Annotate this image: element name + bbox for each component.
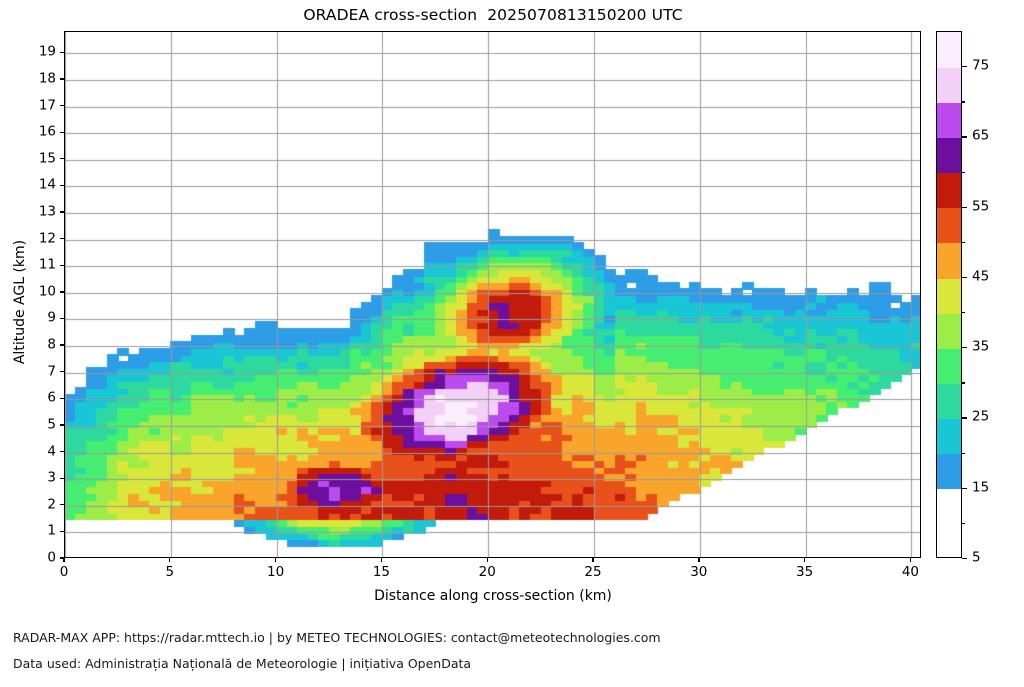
x-tick-label: 30	[690, 566, 707, 580]
colorbar-tick-label: 35	[972, 340, 989, 354]
y-tick-label: 16	[39, 125, 56, 139]
x-tick-mark	[381, 558, 382, 562]
colorbar-tick-label: 55	[972, 200, 989, 214]
colorbar-tick-mark	[962, 347, 967, 348]
x-tick-mark	[910, 558, 911, 562]
colorbar-tick-label: 15	[972, 481, 989, 495]
colorbar-tick-mark	[962, 207, 967, 208]
colorbar-tick-mark	[962, 488, 967, 489]
colorbar-minor-tick-mark	[962, 242, 965, 243]
y-tick-label: 14	[39, 179, 56, 193]
radar-cross-section-figure: ORADEA cross-section 2025070813150200 UT…	[0, 0, 1024, 687]
colorbar-minor-tick-mark	[962, 523, 965, 524]
y-tick-label: 11	[39, 258, 56, 272]
colorbar-minor-tick-mark	[962, 382, 965, 383]
colorbar-minor-tick-mark	[962, 101, 965, 102]
x-axis-label: Distance along cross-section (km)	[64, 588, 922, 604]
x-tick-mark	[592, 558, 593, 562]
x-tick-mark	[804, 558, 805, 562]
y-tick-label: 12	[39, 232, 56, 246]
x-tick-label: 5	[166, 566, 175, 580]
colorbar-tick-label: 65	[972, 130, 989, 144]
colorbar-tick-label: 75	[972, 59, 989, 73]
colorbar-tick-mark	[962, 136, 967, 137]
footer-line-data: Data used: Administrația Națională de Me…	[13, 658, 1003, 671]
y-tick-label: 6	[47, 392, 56, 406]
x-tick-mark	[487, 558, 488, 562]
footer: RADAR-MAX APP: https://radar.mttech.io |…	[13, 632, 1003, 683]
y-tick-label: 19	[39, 46, 56, 60]
x-tick-label: 15	[373, 566, 390, 580]
colorbar-tick-mark	[962, 277, 967, 278]
y-tick-label: 7	[47, 365, 56, 379]
x-tick-label: 40	[902, 566, 919, 580]
footer-line-app: RADAR-MAX APP: https://radar.mttech.io |…	[13, 632, 1003, 645]
x-tick-label: 20	[479, 566, 496, 580]
colorbar-tick-label: 45	[972, 270, 989, 284]
colorbar-tick-label: 5	[972, 551, 981, 565]
x-tick-mark	[275, 558, 276, 562]
y-tick-label: 2	[47, 498, 56, 512]
y-tick-label: 0	[47, 551, 56, 565]
x-tick-label: 25	[584, 566, 601, 580]
x-tick-mark	[169, 558, 170, 562]
colorbar-tick-label: 25	[972, 411, 989, 425]
y-tick-label: 13	[39, 205, 56, 219]
colorbar-tick-mark	[962, 417, 967, 418]
y-tick-label: 4	[47, 445, 56, 459]
colorbar-minor-tick-mark	[962, 172, 965, 173]
y-tick-label: 17	[39, 99, 56, 113]
y-tick-label: 8	[47, 338, 56, 352]
y-tick-label: 10	[39, 285, 56, 299]
colorbar-minor-tick-mark	[962, 453, 965, 454]
x-axis-ticks: 0510152025303540	[0, 566, 1024, 588]
y-tick-label: 18	[39, 72, 56, 86]
reflectivity-field	[65, 32, 921, 558]
x-tick-label: 10	[267, 566, 284, 580]
y-tick-label: 3	[47, 471, 56, 485]
y-tick-label: 5	[47, 418, 56, 432]
page-title: ORADEA cross-section 2025070813150200 UT…	[64, 6, 922, 24]
x-tick-label: 35	[796, 566, 813, 580]
plot-area[interactable]	[64, 31, 921, 558]
colorbar-minor-tick-mark	[962, 312, 965, 313]
x-tick-mark	[698, 558, 699, 562]
colorbar-ticks: 515253545556575	[936, 31, 1024, 558]
x-tick-label: 0	[60, 566, 69, 580]
x-tick-mark	[63, 558, 64, 562]
y-tick-label: 9	[47, 312, 56, 326]
y-tick-label: 1	[47, 525, 56, 539]
colorbar-tick-mark	[962, 66, 967, 67]
y-tick-label: 15	[39, 152, 56, 166]
colorbar-tick-mark	[962, 558, 967, 559]
